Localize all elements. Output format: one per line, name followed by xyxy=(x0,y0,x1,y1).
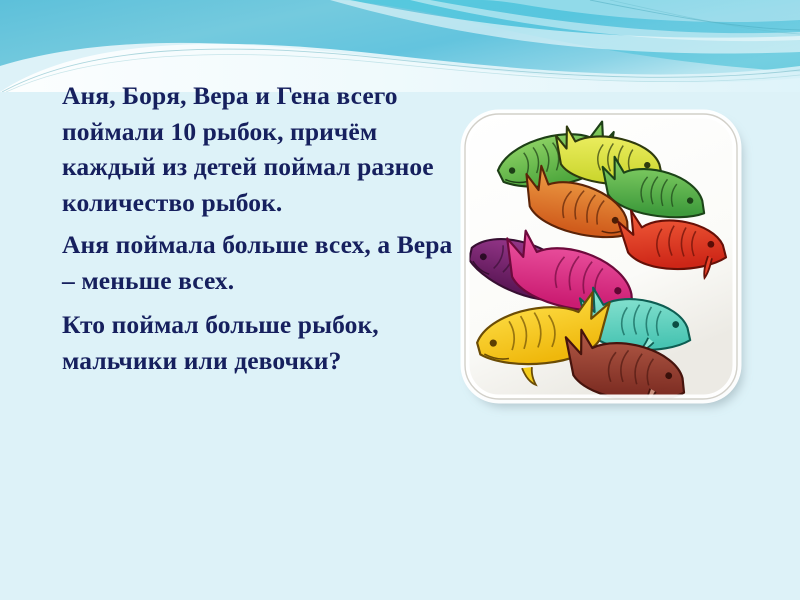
slide-canvas: Аня, Боря, Вера и Гена всего поймали 10 … xyxy=(0,0,800,600)
body-text-block: Аня, Боря, Вера и Гена всего поймали 10 … xyxy=(62,78,462,385)
fish-tile-image xyxy=(455,108,760,423)
paragraph-problem-statement: Аня, Боря, Вера и Гена всего поймали 10 … xyxy=(62,78,462,220)
paragraph-clue: Аня поймала больше всех, а Вера – меньше… xyxy=(62,227,462,298)
paragraph-question: Кто поймал больше рыбок, мальчики или де… xyxy=(62,307,462,378)
